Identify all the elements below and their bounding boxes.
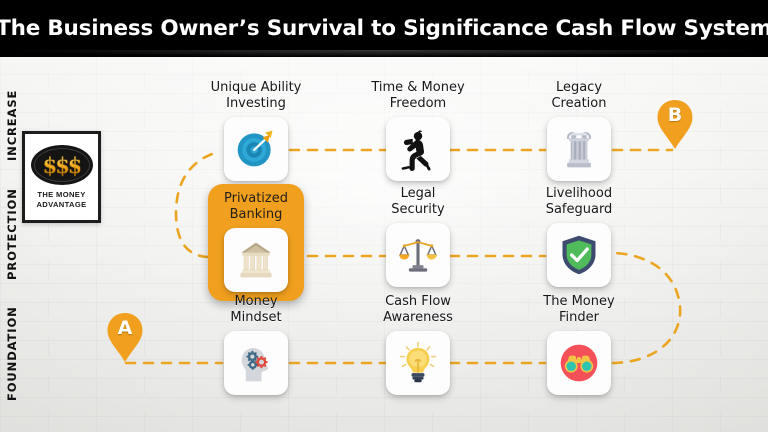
- logo-wordmark: THE MONEY ADVANTAGE: [36, 190, 86, 209]
- node-label: Livelihood Safeguard: [546, 186, 613, 217]
- node-tile[interactable]: [224, 117, 288, 181]
- node-cash-flow-awareness[interactable]: Cash Flow Awareness: [362, 294, 474, 395]
- balance-scales-icon: [396, 233, 440, 277]
- binoculars-icon: [557, 341, 601, 385]
- node-tile[interactable]: [224, 331, 288, 395]
- logo-line-2: ADVANTAGE: [36, 200, 86, 209]
- node-tile[interactable]: [386, 223, 450, 287]
- node-unique-ability-investing[interactable]: Unique Ability Investing: [200, 80, 312, 181]
- band-label-foundation: FOUNDATION: [0, 300, 24, 408]
- title-bar-glow: [0, 50, 768, 57]
- dollar-emblem-icon: $$$: [31, 145, 93, 185]
- node-label: Legacy Creation: [551, 80, 606, 111]
- node-legal-security[interactable]: Legal Security: [362, 186, 474, 287]
- node-time-money-freedom[interactable]: Time & Money Freedom: [362, 80, 474, 181]
- node-tile[interactable]: [547, 117, 611, 181]
- infographic-canvas: The Business Owner’s Survival to Signifi…: [0, 0, 768, 432]
- head-gears-icon: [234, 341, 278, 385]
- node-tile[interactable]: [386, 117, 450, 181]
- node-label: The Money Finder: [543, 294, 614, 325]
- node-privatized-banking[interactable]: Privatized Banking: [208, 184, 304, 301]
- node-label: Cash Flow Awareness: [383, 294, 453, 325]
- node-tile[interactable]: [547, 331, 611, 395]
- greek-column-icon: [557, 127, 601, 171]
- band-label-increase: INCREASE: [0, 82, 24, 168]
- node-label: Unique Ability Investing: [211, 80, 302, 111]
- band-label-protection: PROTECTION: [0, 182, 24, 286]
- node-label: Money Mindset: [230, 294, 281, 325]
- emblem-ring: [34, 148, 90, 182]
- marker-a[interactable]: A: [105, 312, 145, 364]
- node-label: Legal Security: [391, 186, 444, 217]
- jumping-person-icon: [396, 127, 440, 171]
- node-money-mindset[interactable]: Money Mindset: [200, 294, 312, 395]
- node-label: Privatized Banking: [224, 191, 288, 222]
- node-label: Time & Money Freedom: [371, 80, 464, 111]
- shield-check-icon: [557, 233, 601, 277]
- node-tile[interactable]: [386, 331, 450, 395]
- bank-building-icon: [234, 238, 278, 282]
- the-money-advantage-logo: $$$ THE MONEY ADVANTAGE: [22, 131, 101, 223]
- lightbulb-icon: [396, 341, 440, 385]
- title-bar: The Business Owner’s Survival to Signifi…: [0, 0, 768, 57]
- marker-b[interactable]: B: [655, 99, 695, 151]
- marker-letter: B: [655, 104, 695, 126]
- node-legacy-creation[interactable]: Legacy Creation: [523, 80, 635, 181]
- logo-line-1: THE MONEY: [36, 190, 86, 199]
- target-arrow-icon: [234, 127, 278, 171]
- node-tile[interactable]: [224, 228, 288, 292]
- marker-letter: A: [105, 317, 145, 339]
- node-the-money-finder[interactable]: The Money Finder: [523, 294, 635, 395]
- page-title: The Business Owner’s Survival to Signifi…: [0, 16, 768, 41]
- node-livelihood-safeguard[interactable]: Livelihood Safeguard: [523, 186, 635, 287]
- node-tile[interactable]: [547, 223, 611, 287]
